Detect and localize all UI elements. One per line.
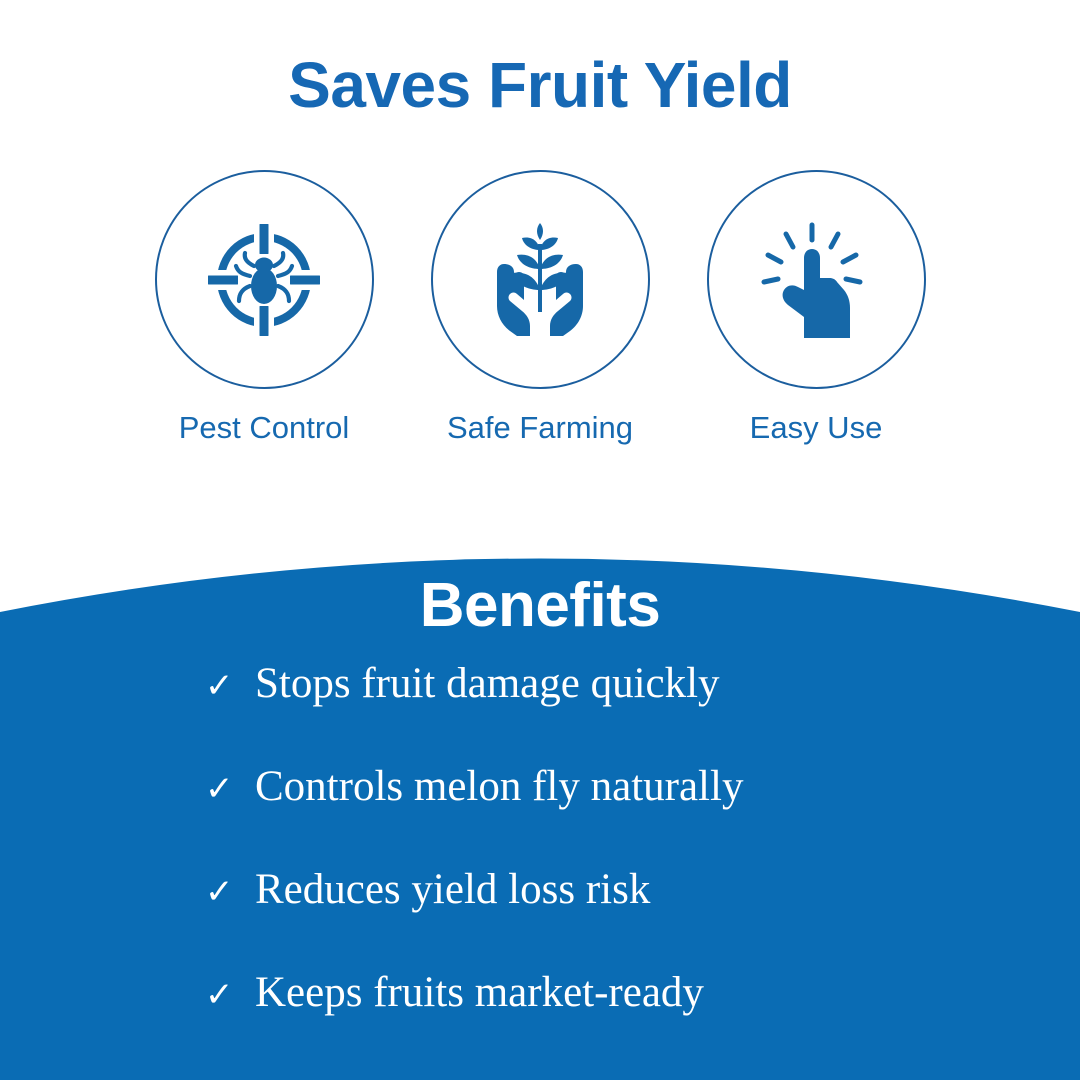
feature-easy-use: Easy Use [702, 170, 930, 446]
check-icon: ✓ [205, 875, 255, 909]
feature-icon-circle [707, 170, 926, 389]
page-title: Saves Fruit Yield [0, 52, 1080, 119]
pest-target-icon [200, 216, 328, 344]
feature-icon-circle [431, 170, 650, 389]
hands-plant-icon [474, 214, 606, 346]
feature-icon-circle [155, 170, 374, 389]
benefit-text: Stops fruit damage quickly [255, 662, 965, 705]
features-section: Saves Fruit Yield [0, 0, 1080, 545]
feature-row: Pest Control [0, 170, 1080, 446]
check-icon: ✓ [205, 772, 255, 806]
benefit-text: Keeps fruits market-ready [255, 971, 965, 1014]
benefit-text: Controls melon fly naturally [255, 765, 965, 808]
feature-pest-control: Pest Control [150, 170, 378, 446]
list-item: ✓ Reduces yield loss risk [205, 868, 965, 971]
poster-root: Benefits ✓ Stops fruit damage quickly ✓ … [0, 0, 1080, 1080]
benefits-heading: Benefits [0, 570, 1080, 641]
feature-label: Pest Control [179, 410, 350, 446]
check-icon: ✓ [205, 669, 255, 703]
feature-label: Safe Farming [447, 410, 633, 446]
list-item: ✓ Stops fruit damage quickly [205, 662, 965, 765]
list-item: ✓ Controls melon fly naturally [205, 765, 965, 868]
list-item: ✓ Keeps fruits market-ready [205, 971, 965, 1074]
feature-label: Easy Use [750, 410, 883, 446]
tap-hand-icon [757, 216, 875, 344]
check-icon: ✓ [205, 978, 255, 1012]
benefit-text: Reduces yield loss risk [255, 868, 965, 911]
feature-safe-farming: Safe Farming [426, 170, 654, 446]
benefits-list: ✓ Stops fruit damage quickly ✓ Controls … [205, 662, 965, 1074]
